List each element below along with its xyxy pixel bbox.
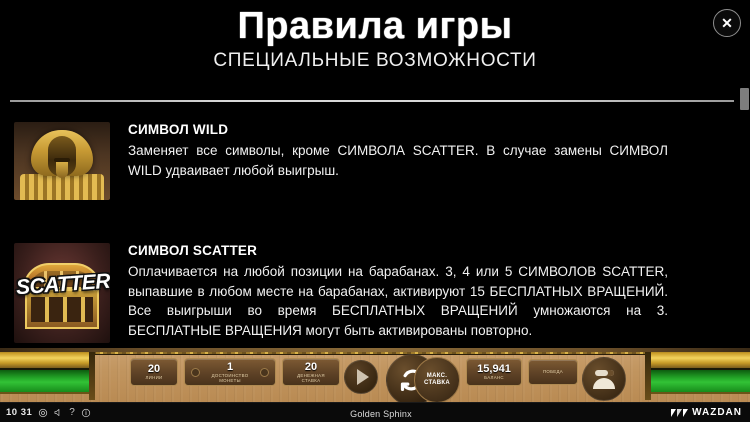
status-bar: 10 31 ? Golden Sphinx WAZDAN <box>0 402 750 422</box>
scatter-chest-symbol: SCATTER <box>14 243 110 343</box>
rule-section-wild: СИМВОЛ WILD Заменяет все символы, кроме … <box>14 122 668 200</box>
scatter-body: Оплачивается на любой позиции на барабан… <box>128 262 668 340</box>
bet-label-line2: СТАВКА <box>302 378 321 383</box>
page-subtitle: СПЕЦИАЛЬНЫЕ ВОЗМОЖНОСТИ <box>0 48 750 74</box>
bet-value: 20 <box>305 362 317 373</box>
info-icon[interactable] <box>81 408 91 418</box>
balance-label: БАЛАНС <box>484 375 504 381</box>
game-control-bar: 20 ЛИНИИ 1 ДОСТОИНСТВО МОНЕТЫ 20 ДЕНЕЖНА… <box>0 358 750 402</box>
clock-time: 10 31 <box>6 407 32 418</box>
autoplay-icon-dome <box>593 378 615 389</box>
max-bet-button[interactable]: МАКС. СТАВКА <box>414 357 460 403</box>
scrollbar[interactable] <box>739 86 750 358</box>
sound-icon[interactable] <box>54 408 63 417</box>
help-icon[interactable]: ? <box>69 408 75 418</box>
scatter-heading: СИМВОЛ SCATTER <box>128 243 668 258</box>
play-button[interactable] <box>344 360 378 394</box>
wild-heading: СИМВОЛ WILD <box>128 122 668 137</box>
gear-icon[interactable] <box>38 408 48 418</box>
lines-label: ЛИНИИ <box>145 375 162 381</box>
rules-overlay: ✕ Правила игры СПЕЦИАЛЬНЫЕ ВОЗМОЖНОСТИ <box>0 0 750 404</box>
brand-name: WAZDAN <box>692 407 742 418</box>
autoplay-icon <box>595 370 614 376</box>
game-screen: 20 ЛИНИИ 1 ДОСТОИНСТВО МОНЕТЫ 20 ДЕНЕЖНА… <box>0 0 750 422</box>
coin-decrease-button[interactable] <box>191 368 200 377</box>
play-icon <box>357 369 369 385</box>
game-name: Golden Sphinx <box>350 409 412 419</box>
wild-sphinx-symbol <box>14 122 110 200</box>
max-bet-label-line1: МАКС. <box>427 373 447 380</box>
close-icon[interactable]: ✕ <box>713 9 741 37</box>
header-divider <box>10 100 734 102</box>
sphinx-beard <box>56 162 68 178</box>
coin-label-line2: МОНЕТЫ <box>219 378 241 383</box>
balance-display: 15,941 БАЛАНС <box>466 358 522 386</box>
lines-display[interactable]: 20 ЛИНИИ <box>130 358 178 386</box>
coin-value: 1 <box>227 362 233 373</box>
scrollbar-thumb[interactable] <box>740 88 749 110</box>
autoplay-button[interactable] <box>582 357 626 401</box>
win-label: ПОБЕДА <box>543 369 563 375</box>
wazdan-logo-icon <box>671 409 688 417</box>
coin-value-display[interactable]: 1 ДОСТОИНСТВО МОНЕТЫ <box>184 358 276 386</box>
win-display: ПОБЕДА <box>528 359 578 385</box>
balance-value: 15,941 <box>477 364 511 375</box>
reel-frame-top <box>92 348 650 355</box>
wild-body: Заменяет все символы, кроме СИМВОЛА SCAT… <box>128 141 668 180</box>
max-bet-label-line2: СТАВКА <box>424 380 450 387</box>
rule-section-scatter: SCATTER СИМВОЛ SCATTER Оплачивается на л… <box>14 243 668 343</box>
page-title: Правила игры <box>0 0 750 48</box>
bet-display[interactable]: 20 ДЕНЕЖНАЯ СТАВКА <box>282 358 340 386</box>
coin-increase-button[interactable] <box>260 368 269 377</box>
lines-value: 20 <box>148 364 160 375</box>
